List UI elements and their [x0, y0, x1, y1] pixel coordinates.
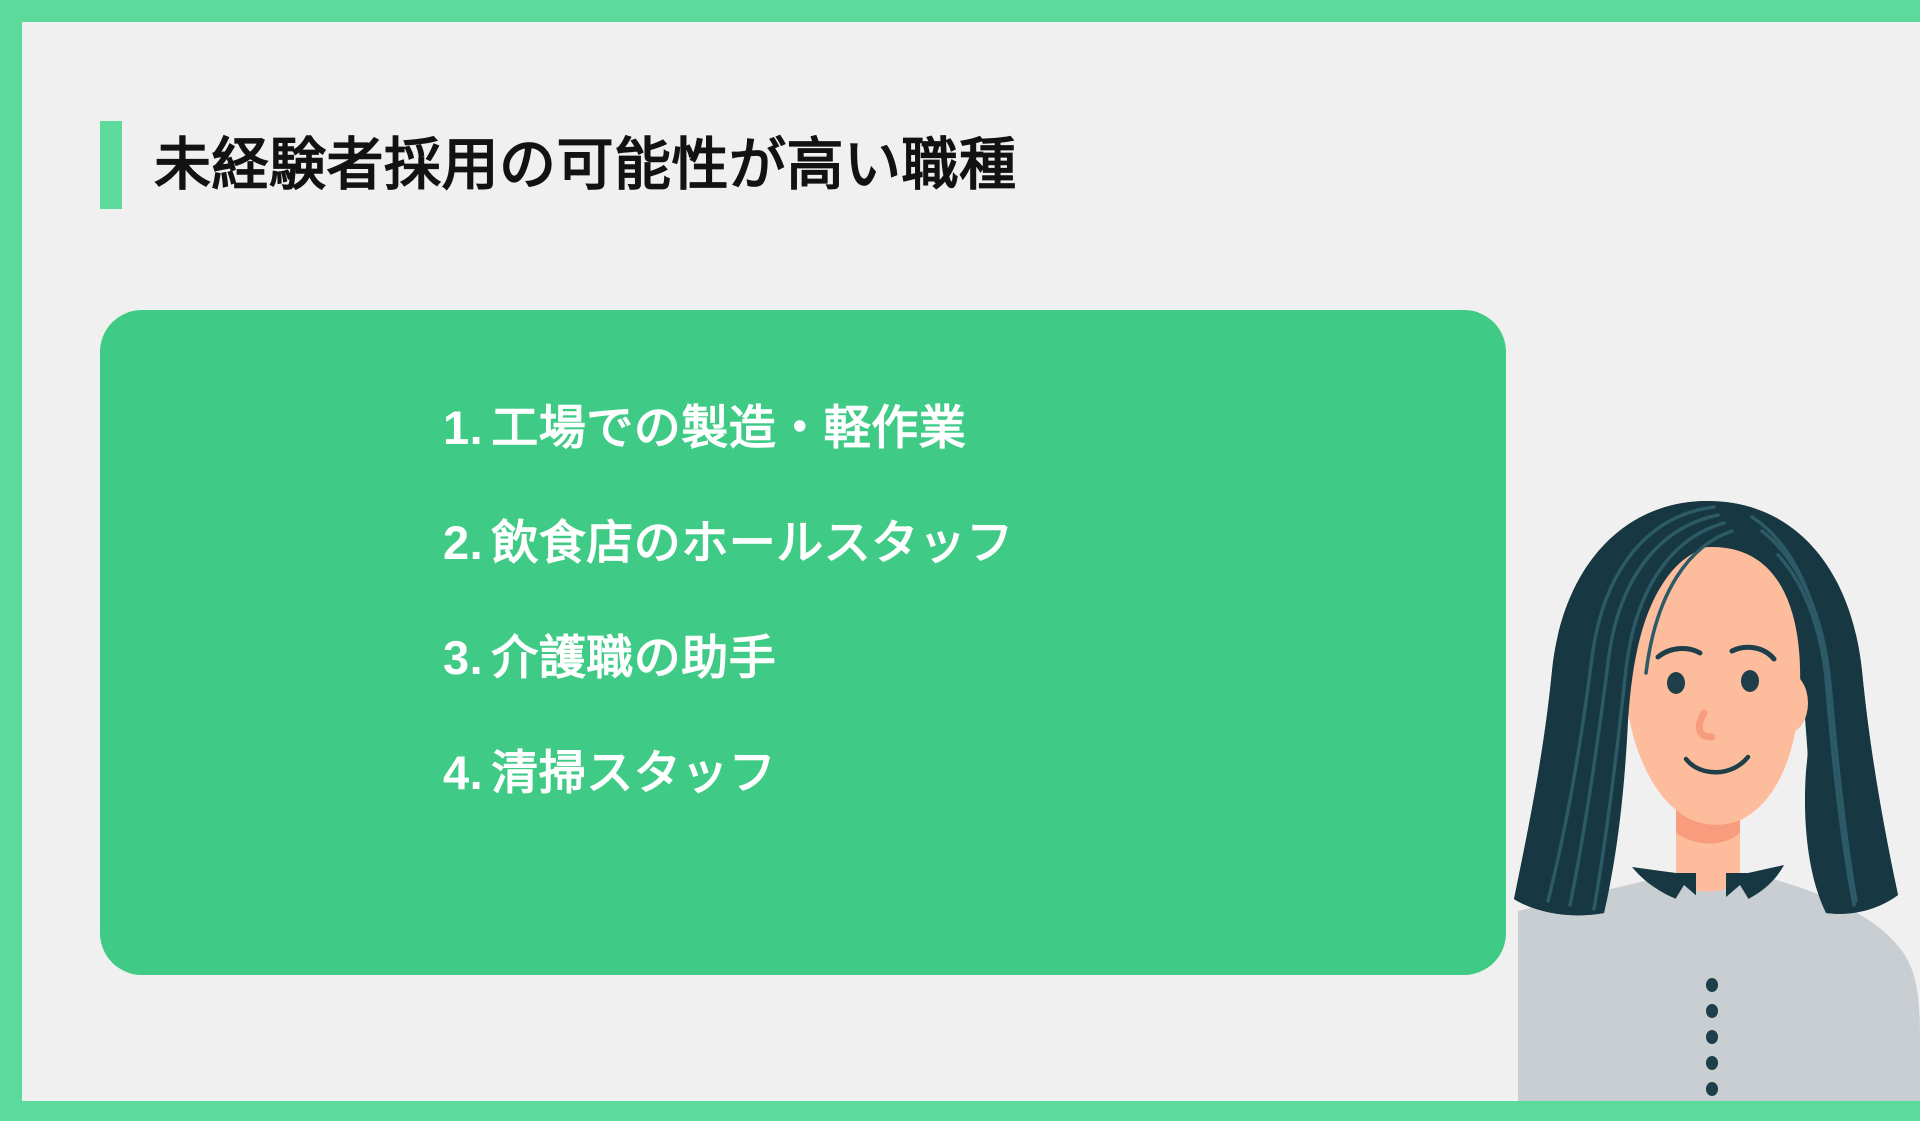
list-item-label: 工場での製造・軽作業	[491, 401, 966, 454]
slide-panel: 未経験者採用の可能性が高い職種 1.工場での製造・軽作業 2.飲食店のホールスタ…	[22, 22, 1920, 1101]
eyebrow-left	[1658, 648, 1700, 657]
job-list: 1.工場での製造・軽作業 2.飲食店のホールスタッフ 3.介護職の助手 4.清掃…	[443, 404, 1014, 796]
slide-frame: 未経験者採用の可能性が高い職種 1.工場での製造・軽作業 2.飲食店のホールスタ…	[0, 0, 1920, 1121]
nose	[1699, 713, 1712, 737]
hair-right	[1800, 594, 1898, 914]
list-item-number: 3.	[443, 631, 483, 684]
title-label: 未経験者採用の可能性が高い職種	[154, 137, 1017, 194]
shirt-button	[1706, 1082, 1718, 1096]
hair-front-left	[1514, 501, 1762, 915]
woman-illustration	[1500, 481, 1920, 1101]
neck-shadow	[1676, 781, 1740, 844]
collar-left	[1662, 885, 1712, 981]
ear	[1768, 673, 1808, 733]
eyebrow-right	[1732, 647, 1774, 659]
list-item-label: 介護職の助手	[491, 631, 776, 684]
list-item: 4.清掃スタッフ	[443, 749, 1014, 796]
shirt-button	[1706, 1030, 1718, 1044]
collar-right-dark	[1726, 865, 1784, 907]
shirt-buttons	[1706, 978, 1718, 1101]
list-item-number: 2.	[443, 516, 483, 569]
collar-left-dark	[1632, 867, 1696, 905]
mouth	[1686, 757, 1748, 772]
neck	[1676, 781, 1740, 892]
hair-back	[1514, 501, 1898, 915]
hair-strand-lines	[1548, 507, 1856, 909]
face	[1624, 547, 1800, 825]
list-item: 2.飲食店のホールスタッフ	[443, 519, 1014, 566]
ear-inner	[1786, 693, 1795, 721]
eye-right	[1741, 670, 1759, 692]
list-item-number: 1.	[443, 401, 483, 454]
list-item: 1.工場での製造・軽作業	[443, 404, 1014, 451]
title-accent-bar	[100, 121, 122, 209]
eye-left	[1667, 672, 1685, 694]
list-item-label: 飲食店のホールスタッフ	[491, 516, 1014, 569]
list-item: 3.介護職の助手	[443, 634, 1014, 681]
shirt-button	[1706, 978, 1718, 992]
list-item-label: 清掃スタッフ	[491, 746, 776, 799]
shirt-button	[1706, 1004, 1718, 1018]
shirt-button	[1706, 1056, 1718, 1070]
shirt-body	[1518, 873, 1920, 1101]
page-title: 未経験者採用の可能性が高い職種	[100, 121, 1017, 209]
list-item-number: 4.	[443, 746, 483, 799]
job-list-card: 1.工場での製造・軽作業 2.飲食店のホールスタッフ 3.介護職の助手 4.清掃…	[100, 310, 1506, 975]
collar-right	[1712, 885, 1762, 981]
